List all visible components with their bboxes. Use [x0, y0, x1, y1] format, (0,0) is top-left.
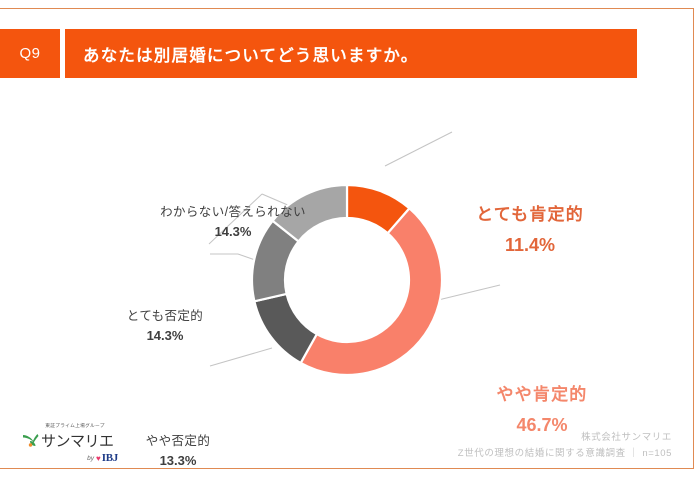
leader-line-somewhatnegative — [210, 348, 272, 366]
footer-credit: 株式会社サンマリエ Z世代の理想の結婚に関する意識調査 ｜ n=105 — [458, 430, 672, 461]
slice-label-dontknow: わからない/答えられない 14.3% — [118, 204, 348, 240]
slice-label-somewhatnegative-name: やや否定的 — [108, 433, 248, 450]
logo-caption: 東証プライム上場グループ — [31, 423, 119, 429]
sunmarie-logo: 東証プライム上場グループ サンマリエ by ♥ IBJ — [22, 423, 118, 465]
slice-label-dontknow-value: 14.3% — [118, 223, 348, 241]
logo-partner-text: IBJ — [102, 452, 118, 464]
logo-brand-text: サンマリエ — [41, 430, 114, 451]
slice-label-somewhatpositive-name: やや肯定的 — [442, 384, 642, 407]
question-number-badge: Q9 — [0, 29, 60, 78]
slice-label-dontknow-name: わからない/答えられない — [118, 204, 348, 221]
logo-by-row: by ♥ IBJ — [22, 452, 118, 464]
leader-line-verypositive — [385, 132, 452, 166]
slide-canvas: Q9 あなたは別居婚についてどう思いますか。 — [0, 0, 700, 485]
leaf-icon — [22, 433, 39, 448]
logo-by-text: by — [87, 455, 94, 462]
slice-label-verypositive-name: とても肯定的 — [430, 204, 630, 227]
donut-chart: わからない/答えられない 14.3% とても否定的 14.3% やや否定的 13… — [0, 86, 700, 406]
question-title-text: あなたは別居婚についてどう思いますか。 — [65, 42, 418, 66]
footer-credit-survey: Z世代の理想の結婚に関する意識調査 ｜ n=105 — [458, 446, 672, 462]
logo-main-row: サンマリエ — [22, 430, 118, 451]
question-title-bar: あなたは別居婚についてどう思いますか。 — [65, 29, 637, 78]
slice-label-verynegative-name: とても否定的 — [95, 308, 235, 325]
slice-label-somewhatnegative-value: 13.3% — [108, 452, 248, 470]
slice-label-verypositive: とても肯定的 11.4% — [430, 204, 630, 257]
footer-credit-company: 株式会社サンマリエ — [458, 430, 672, 446]
donut-slice-somewhatnegative[interactable] — [254, 294, 316, 363]
question-number-label: Q9 — [19, 45, 40, 62]
slice-label-verynegative-value: 14.3% — [95, 327, 235, 345]
heart-icon: ♥ — [96, 454, 101, 463]
slice-label-verynegative: とても否定的 14.3% — [95, 308, 235, 344]
slice-label-somewhatnegative: やや否定的 13.3% — [108, 433, 248, 469]
slice-label-verypositive-value: 11.4% — [430, 233, 630, 257]
